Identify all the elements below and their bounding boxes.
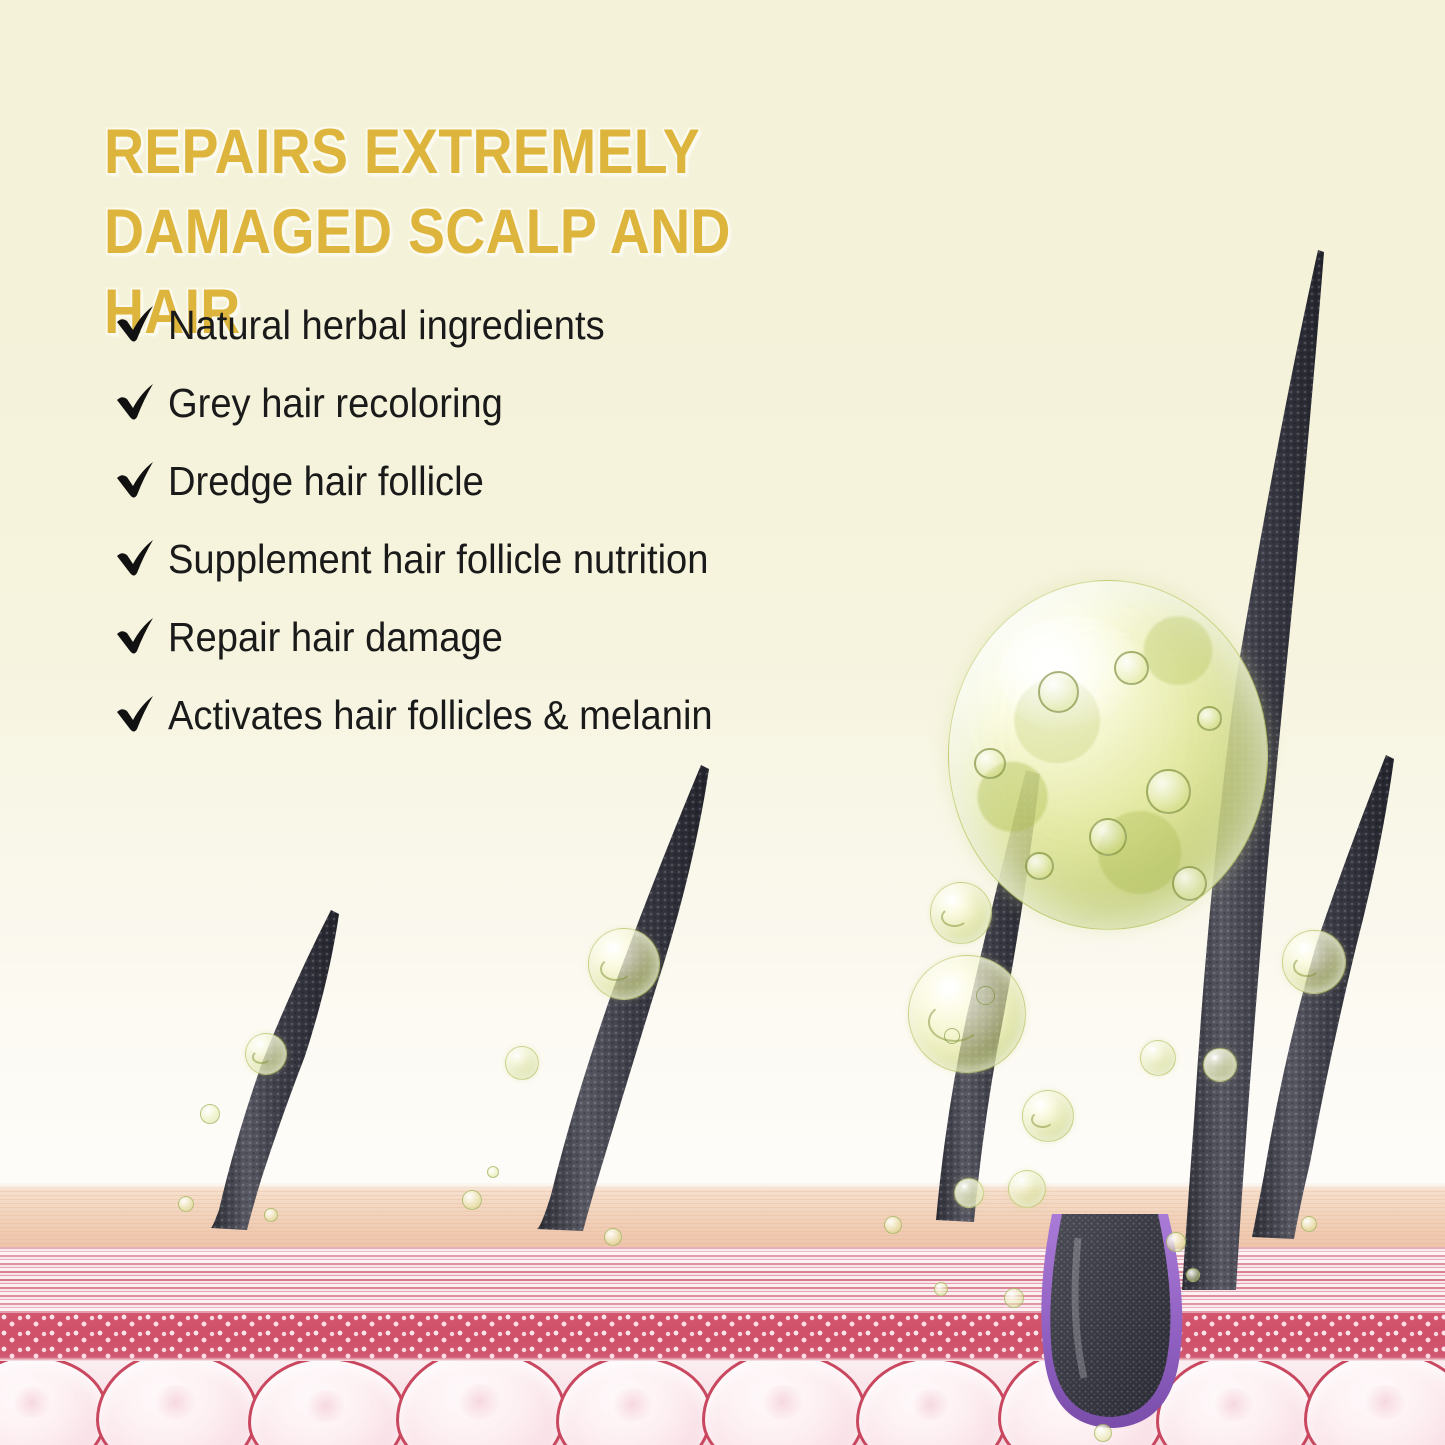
bubble-dot bbox=[944, 1028, 960, 1044]
list-item: Grey hair recoloring bbox=[112, 364, 972, 442]
bubble-highlight bbox=[1034, 1099, 1047, 1109]
bubble-highlight bbox=[935, 975, 965, 998]
inner-bubble bbox=[1197, 706, 1222, 730]
bubble-highlight bbox=[1017, 1177, 1026, 1184]
product-feature-image: REPAIRS EXTREMELY DAMAGED SCALP AND HAIR… bbox=[0, 0, 1445, 1445]
fat-cell bbox=[96, 1361, 258, 1445]
benefit-label: Natural herbal ingredients bbox=[168, 305, 605, 346]
micro-bubble bbox=[1094, 1424, 1112, 1442]
check-icon bbox=[112, 539, 160, 579]
fat-cell bbox=[248, 1361, 406, 1445]
bubble-ring bbox=[1293, 956, 1322, 977]
check-icon bbox=[112, 305, 160, 345]
fat-cell bbox=[396, 1361, 566, 1445]
micro-bubble bbox=[200, 1104, 220, 1124]
serum-bubble bbox=[1022, 1090, 1074, 1142]
serum-droplet-large bbox=[948, 580, 1268, 930]
serum-bubble bbox=[1203, 1048, 1237, 1082]
bubble-dot bbox=[976, 986, 995, 1005]
bubble-highlight bbox=[255, 1040, 265, 1048]
check-icon bbox=[112, 383, 160, 423]
micro-bubble bbox=[604, 1228, 622, 1246]
serum-bubble bbox=[245, 1033, 287, 1075]
inner-bubble bbox=[1089, 818, 1127, 856]
serum-bubble bbox=[954, 1178, 984, 1208]
list-item: Activates hair follicles & melanin bbox=[112, 676, 972, 754]
serum-bubble bbox=[908, 955, 1026, 1073]
micro-bubble bbox=[884, 1216, 902, 1234]
fat-cell bbox=[856, 1361, 1008, 1445]
check-icon bbox=[112, 617, 160, 657]
bubble-highlight bbox=[961, 1183, 968, 1189]
bubble-ring bbox=[1031, 1111, 1054, 1128]
fat-cell bbox=[556, 1361, 712, 1445]
bubble-highlight bbox=[1148, 1046, 1157, 1053]
fat-cell bbox=[0, 1361, 108, 1445]
fat-cell bbox=[702, 1361, 866, 1445]
hair-shaft-middle bbox=[495, 765, 725, 1235]
bubble-highlight bbox=[513, 1052, 521, 1058]
serum-bubble bbox=[930, 882, 992, 944]
serum-bubble bbox=[1140, 1040, 1176, 1076]
bubble-highlight bbox=[1211, 1054, 1219, 1060]
bubble-ring bbox=[600, 957, 632, 981]
bubble-highlight bbox=[1297, 941, 1313, 953]
benefit-label: Grey hair recoloring bbox=[168, 383, 503, 424]
serum-bubble bbox=[588, 928, 660, 1000]
inner-bubble bbox=[1172, 866, 1207, 901]
serum-bubble bbox=[1008, 1170, 1046, 1208]
benefit-label: Activates hair follicles & melanin bbox=[168, 695, 713, 736]
micro-bubble bbox=[1301, 1216, 1317, 1232]
bubble-highlight bbox=[944, 893, 960, 905]
benefit-label: Repair hair damage bbox=[168, 617, 503, 658]
micro-bubble bbox=[462, 1190, 482, 1210]
micro-bubble bbox=[934, 1282, 948, 1296]
fat-cell bbox=[1304, 1361, 1445, 1445]
list-item: Dredge hair follicle bbox=[112, 442, 972, 520]
list-item: Supplement hair follicle nutrition bbox=[112, 520, 972, 598]
check-icon bbox=[112, 461, 160, 501]
benefits-list: Natural herbal ingredients Grey hair rec… bbox=[112, 286, 972, 754]
bubble-highlight bbox=[604, 940, 622, 954]
list-item: Repair hair damage bbox=[112, 598, 972, 676]
list-item: Natural herbal ingredients bbox=[112, 286, 972, 364]
micro-bubble bbox=[178, 1196, 194, 1212]
bubble-ring bbox=[252, 1050, 270, 1064]
benefit-label: Supplement hair follicle nutrition bbox=[168, 539, 708, 580]
serum-bubble bbox=[1282, 930, 1346, 994]
serum-bubble bbox=[505, 1046, 539, 1080]
micro-bubble bbox=[487, 1166, 499, 1178]
micro-bubble bbox=[1004, 1288, 1024, 1308]
micro-bubble bbox=[1166, 1232, 1186, 1252]
inner-bubble bbox=[1146, 769, 1191, 814]
benefit-label: Dredge hair follicle bbox=[168, 461, 484, 502]
bubble-ring bbox=[941, 907, 969, 927]
inner-bubble bbox=[1025, 852, 1054, 880]
check-icon bbox=[112, 695, 160, 735]
micro-bubble bbox=[1186, 1268, 1200, 1282]
micro-bubble bbox=[264, 1208, 278, 1222]
